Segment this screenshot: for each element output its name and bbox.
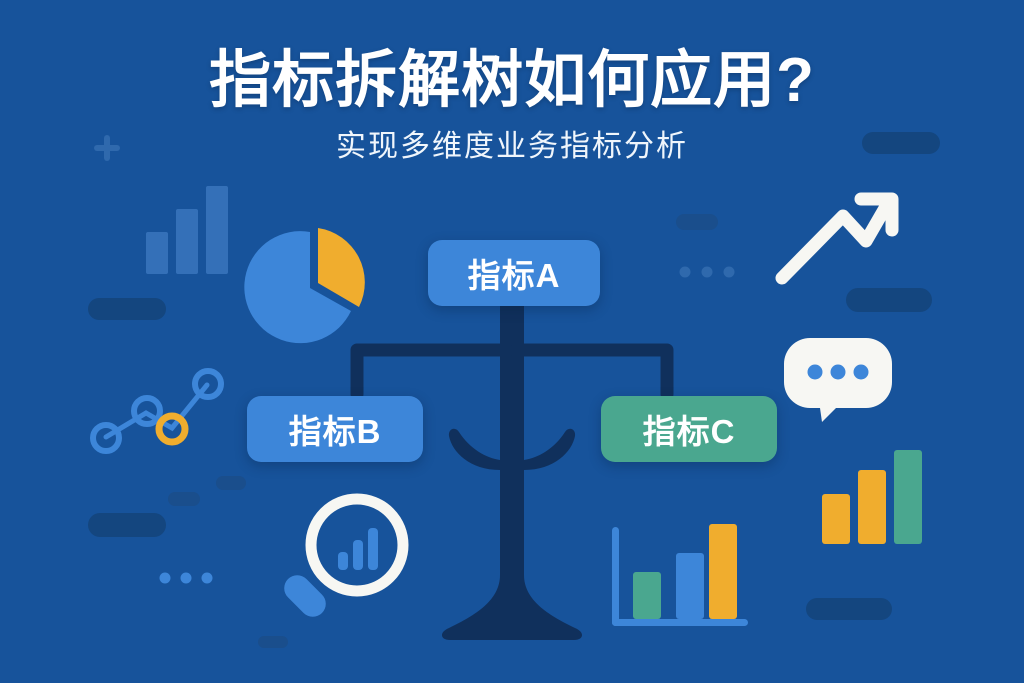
title-block: 指标拆解树如何应用? 实现多维度业务指标分析	[0, 48, 1024, 165]
page-subtitle: 实现多维度业务指标分析	[0, 129, 1024, 165]
page-title: 指标拆解树如何应用?	[0, 48, 1024, 115]
title-layer: 指标拆解树如何应用? 实现多维度业务指标分析	[0, 0, 1024, 683]
poster-canvas: 指标A 指标B 指标C 指标拆解树如何应用? 实现多维度业务指标分析	[0, 0, 1024, 683]
